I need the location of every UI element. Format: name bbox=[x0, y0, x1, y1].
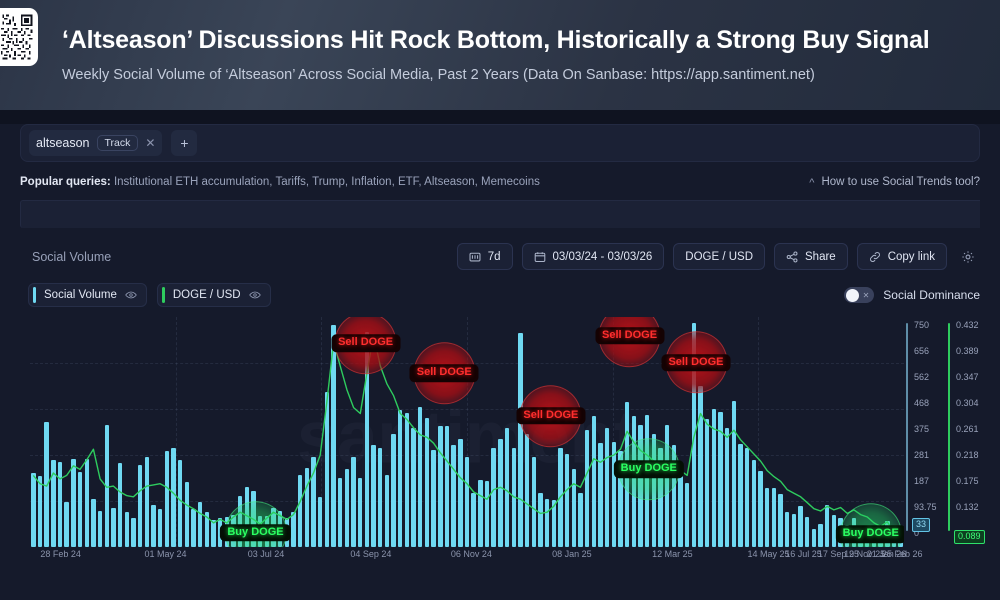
popular-queries-label: Popular queries: bbox=[20, 176, 111, 188]
right-axis-tick: 0.132 bbox=[956, 502, 979, 512]
app-body: altseason Track ✕ + Popular queries: Ins… bbox=[0, 124, 1000, 600]
copy-link-button[interactable]: Copy link bbox=[857, 243, 947, 270]
legend-color-swatch bbox=[33, 287, 36, 303]
track-button[interactable]: Track bbox=[97, 135, 139, 152]
share-label: Share bbox=[805, 251, 836, 263]
qr-code-icon bbox=[0, 8, 38, 66]
left-axis-tick: 750 bbox=[914, 320, 929, 330]
x-axis-tick: 12 Mar 25 bbox=[652, 549, 693, 559]
left-axis-tick: 93.75 bbox=[914, 502, 937, 512]
legend-chip-doge-usd[interactable]: DOGE / USD bbox=[157, 283, 271, 307]
left-axis-tick: 656 bbox=[914, 346, 929, 356]
link-icon bbox=[869, 251, 881, 263]
popular-queries: Popular queries: Institutional ETH accum… bbox=[20, 176, 540, 188]
left-axis-tick: 187 bbox=[914, 476, 929, 486]
right-axis-tick: 0.347 bbox=[956, 372, 979, 382]
asset-selector-button[interactable]: DOGE / USD bbox=[673, 243, 765, 270]
sell-signal-annotation[interactable]: Sell DOGE bbox=[595, 327, 664, 345]
annotation-label: Sell DOGE bbox=[410, 365, 479, 383]
buy-signal-annotation[interactable]: Buy DOGE bbox=[836, 526, 904, 544]
social-dominance-label: Social Dominance bbox=[883, 288, 980, 302]
page-title: ‘Altseason’ Discussions Hit Rock Bottom,… bbox=[62, 27, 1000, 55]
copy-link-label: Copy link bbox=[888, 251, 935, 263]
chart-tool-group: 7d 03/03/24 - 03/03/26 DOGE / USD bbox=[457, 243, 980, 270]
buy-signal-annotation[interactable]: Buy DOGE bbox=[614, 461, 684, 479]
page-header: ‘Altseason’ Discussions Hit Rock Bottom,… bbox=[0, 0, 1000, 110]
left-axis-tick: 468 bbox=[914, 398, 929, 408]
eye-icon[interactable] bbox=[249, 289, 261, 301]
calendar-range-icon bbox=[469, 251, 481, 263]
x-axis-tick: 01 May 24 bbox=[144, 549, 186, 559]
plus-icon[interactable]: + bbox=[171, 130, 197, 156]
popular-queries-row: Popular queries: Institutional ETH accum… bbox=[20, 176, 980, 188]
sell-signal-annotation[interactable]: Sell DOGE bbox=[331, 335, 400, 353]
right-axis-tick: 0.389 bbox=[956, 346, 979, 356]
right-y-axis: 0.4320.3890.3470.3040.2610.2180.1750.132… bbox=[948, 317, 994, 547]
sell-signal-annotation[interactable]: Sell DOGE bbox=[410, 365, 479, 383]
search-token-altseason[interactable]: altseason Track ✕ bbox=[29, 130, 162, 156]
x-axis-tick: 28 Feb 24 bbox=[40, 549, 81, 559]
left-y-axis: 75065656246837528118793.75033 bbox=[906, 317, 952, 547]
buy-signal-annotation[interactable]: Buy DOGE bbox=[220, 524, 290, 542]
legend-color-swatch bbox=[162, 287, 165, 303]
toggle-off-icon[interactable]: ✕ bbox=[844, 287, 874, 303]
right-axis-tick: 0.175 bbox=[956, 476, 979, 486]
close-icon[interactable]: ✕ bbox=[145, 136, 155, 150]
legend-chip-social-volume[interactable]: Social Volume bbox=[28, 283, 147, 307]
annotation-label: Buy DOGE bbox=[220, 524, 290, 542]
empty-panel-strip bbox=[20, 200, 980, 228]
how-to-use-label: How to use Social Trends tool? bbox=[821, 176, 980, 188]
x-axis-tick: 06 Nov 24 bbox=[451, 549, 492, 559]
chart-title: Social Volume bbox=[20, 250, 111, 264]
right-axis-tick: 0.261 bbox=[956, 424, 979, 434]
right-axis-spine bbox=[948, 323, 950, 531]
chevron-up-icon: ^ bbox=[809, 177, 814, 189]
chart-area: santiment Sell DOGESell DOGESell DOGESel… bbox=[0, 317, 1000, 567]
date-range-label: 03/03/24 - 03/03/26 bbox=[553, 251, 653, 263]
right-axis-tick: 0.432 bbox=[956, 320, 979, 330]
popular-queries-items[interactable]: Institutional ETH accumulation, Tariffs,… bbox=[114, 176, 540, 188]
toggle-off-mark: ✕ bbox=[863, 291, 870, 300]
left-axis-spine bbox=[906, 323, 908, 531]
x-axis: 28 Feb 2401 May 2403 Jul 2404 Sep 2406 N… bbox=[30, 549, 904, 567]
annotation-label: Sell DOGE bbox=[331, 335, 400, 353]
toggle-knob bbox=[846, 289, 859, 302]
left-axis-tick: 281 bbox=[914, 450, 929, 460]
legend-label: Social Volume bbox=[44, 289, 117, 301]
gear-icon[interactable] bbox=[956, 245, 980, 269]
annotation-label: Sell DOGE bbox=[595, 327, 664, 345]
annotation-label: Sell DOGE bbox=[516, 407, 585, 425]
share-icon bbox=[786, 251, 798, 263]
page-subtitle: Weekly Social Volume of ‘Altseason’ Acro… bbox=[62, 67, 1000, 83]
chart-plot[interactable]: santiment Sell DOGESell DOGESell DOGESel… bbox=[30, 317, 904, 547]
social-dominance-control[interactable]: ✕ Social Dominance bbox=[844, 287, 980, 303]
x-axis-tick: 16 Jul 25 bbox=[785, 549, 822, 559]
chart-legend-row: Social Volume DOGE / USD bbox=[20, 283, 980, 307]
header-text-block: ‘Altseason’ Discussions Hit Rock Bottom,… bbox=[62, 27, 1000, 84]
search-bar[interactable]: altseason Track ✕ + bbox=[20, 124, 980, 162]
interval-button[interactable]: 7d bbox=[457, 243, 513, 270]
series-legend: Social Volume DOGE / USD bbox=[20, 283, 271, 307]
right-axis-tick: 0.304 bbox=[956, 398, 979, 408]
annotation-label: Buy DOGE bbox=[836, 526, 904, 544]
asset-label: DOGE / USD bbox=[685, 251, 753, 263]
eye-icon[interactable] bbox=[125, 289, 137, 301]
search-token-label: altseason bbox=[36, 136, 90, 150]
x-axis-tick: 08 Jan 25 bbox=[552, 549, 592, 559]
date-range-button[interactable]: 03/03/24 - 03/03/26 bbox=[522, 243, 665, 270]
x-axis-tick: 03 Jul 24 bbox=[248, 549, 285, 559]
left-axis-current-value: 33 bbox=[912, 518, 930, 532]
right-axis-tick: 0.218 bbox=[956, 450, 979, 460]
left-axis-tick: 562 bbox=[914, 372, 929, 382]
x-axis-tick: 04 Sep 24 bbox=[350, 549, 391, 559]
annotation-label: Sell DOGE bbox=[661, 354, 730, 372]
x-axis-tick: 14 May 25 bbox=[748, 549, 790, 559]
calendar-icon bbox=[534, 251, 546, 263]
annotation-label: Buy DOGE bbox=[614, 461, 684, 479]
how-to-use-link[interactable]: ^ How to use Social Trends tool? bbox=[809, 176, 980, 188]
legend-label: DOGE / USD bbox=[173, 289, 241, 301]
sell-signal-annotation[interactable]: Sell DOGE bbox=[661, 354, 730, 372]
right-axis-current-value: 0.089 bbox=[954, 530, 985, 544]
sell-signal-annotation[interactable]: Sell DOGE bbox=[516, 407, 585, 425]
left-axis-tick: 375 bbox=[914, 424, 929, 434]
share-button[interactable]: Share bbox=[774, 243, 848, 270]
x-axis-tick: 25 Feb 26 bbox=[882, 549, 923, 559]
chart-toolbar: Social Volume 7d 03/03/24 - 03/03/26 bbox=[20, 243, 980, 270]
interval-label: 7d bbox=[488, 251, 501, 263]
